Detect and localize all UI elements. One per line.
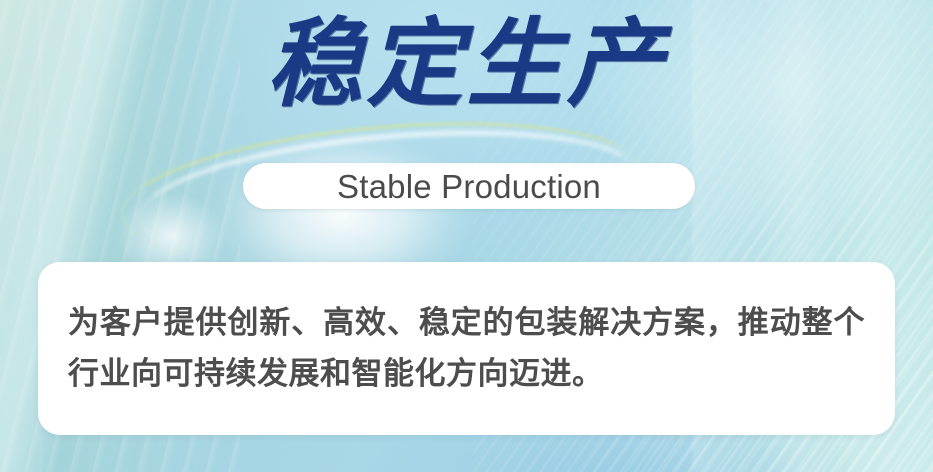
description-text: 为客户提供创新、高效、稳定的包装解决方案，推动整个行业向可持续发展和智能化方向迈…: [68, 298, 865, 398]
page-title: 稳定生产: [0, 8, 933, 121]
subtitle-pill: Stable Production: [243, 163, 695, 209]
stable-production-banner: 稳定生产 Stable Production 为客户提供创新、高效、稳定的包装解…: [0, 0, 933, 472]
subtitle-label: Stable Production: [337, 170, 601, 203]
description-card: 为客户提供创新、高效、稳定的包装解决方案，推动整个行业向可持续发展和智能化方向迈…: [38, 262, 895, 435]
